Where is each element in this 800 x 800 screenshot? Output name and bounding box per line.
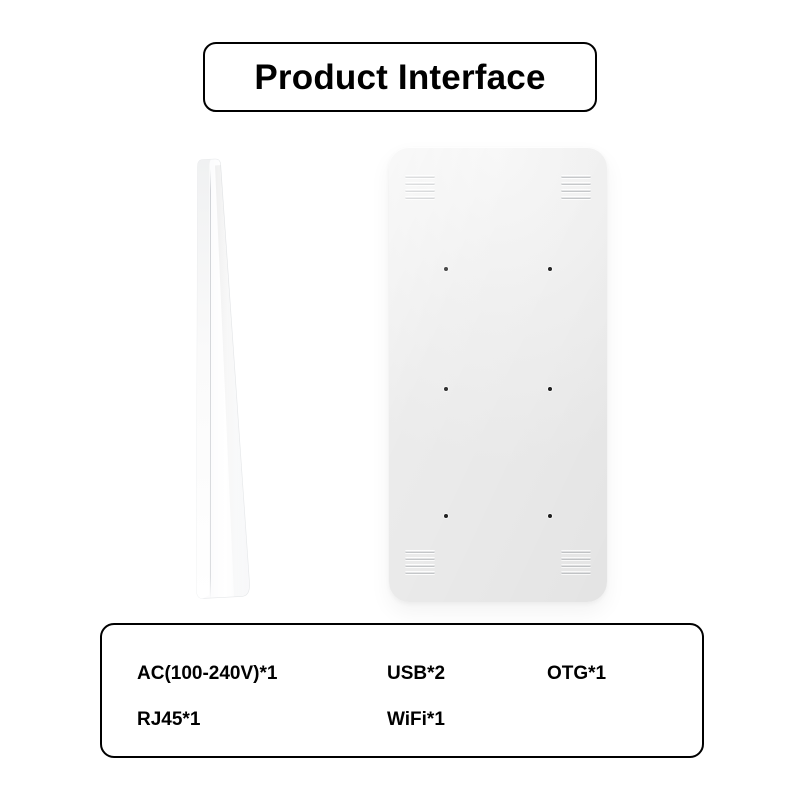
specs-row-1: AC(100-240V)*1 USB*2 OTG*1 [102, 651, 702, 697]
screw-hole [444, 514, 448, 518]
vent-slot [405, 557, 435, 560]
vent-slot [405, 571, 435, 574]
vent-slot [561, 571, 591, 574]
vent-grille-bottom-right-icon [561, 550, 591, 574]
vent-slot [405, 189, 435, 192]
vent-slot [561, 189, 591, 192]
product-image-stage [0, 125, 800, 605]
screw-hole [548, 387, 552, 391]
spec-item-ac: AC(100-240V)*1 [137, 663, 387, 685]
vent-slot [405, 564, 435, 567]
vent-slot [405, 175, 435, 178]
title-banner: Product Interface [203, 42, 597, 112]
spec-item-rj45: RJ45*1 [137, 709, 387, 731]
vent-slot [561, 550, 591, 553]
specifications-box: AC(100-240V)*1 USB*2 OTG*1 RJ45*1 WiFi*1 [100, 623, 704, 758]
spec-item-wifi: WiFi*1 [387, 709, 547, 731]
vent-slot [405, 182, 435, 185]
page-title: Product Interface [254, 60, 545, 95]
device-side-seam-line [210, 169, 211, 599]
device-rear-panel-view [389, 147, 607, 602]
screw-hole [444, 387, 448, 391]
vent-grille-top-left-icon [405, 175, 435, 199]
vent-slot [561, 196, 591, 199]
device-side-profile-view [185, 143, 265, 605]
vent-grille-top-right-icon [561, 175, 591, 199]
vent-slot [561, 175, 591, 178]
screw-hole [548, 514, 552, 518]
device-side-profile-shape [185, 143, 265, 605]
spec-item-otg: OTG*1 [547, 663, 606, 685]
vent-slot [561, 564, 591, 567]
vent-slot [561, 557, 591, 560]
spec-item-usb: USB*2 [387, 663, 547, 685]
screw-hole [444, 267, 448, 271]
screw-hole [548, 267, 552, 271]
vent-grille-bottom-left-icon [405, 550, 435, 574]
specs-row-2: RJ45*1 WiFi*1 [102, 697, 702, 743]
vent-slot [405, 550, 435, 553]
vent-slot [561, 182, 591, 185]
device-rear-panel-body [389, 147, 607, 602]
vent-slot [405, 196, 435, 199]
